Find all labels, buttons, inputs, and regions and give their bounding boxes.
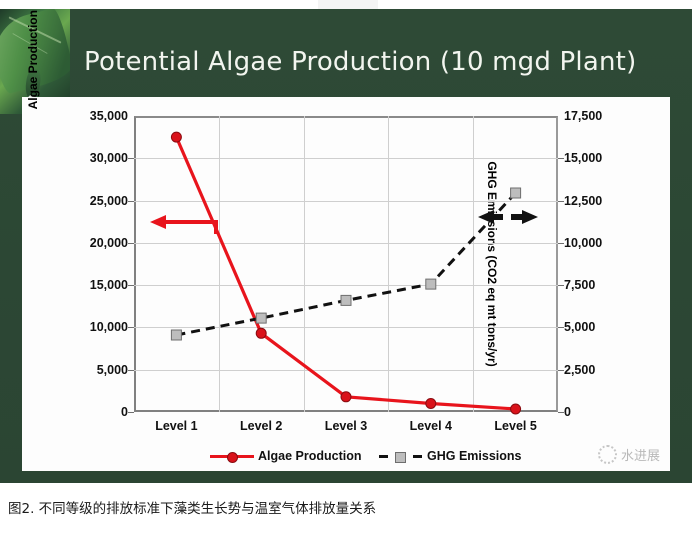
right-tick-5: 12,500 xyxy=(564,194,602,208)
series-line-algae-production xyxy=(176,137,515,409)
left-axis-ticks: 0 5,000 10,000 15,000 20,000 25,000 30,0… xyxy=(58,116,128,412)
data-point-algae-production-1[interactable] xyxy=(171,132,181,142)
left-tick-0: 0 xyxy=(121,405,128,419)
left-tick-1: 5,000 xyxy=(97,363,128,377)
data-point-algae-production-3[interactable] xyxy=(341,392,351,402)
plot-area xyxy=(134,116,558,412)
x-tick-level-4: Level 4 xyxy=(410,419,452,433)
data-series-layer xyxy=(134,116,558,412)
legend-label-algae-production: Algae Production xyxy=(258,449,361,463)
right-tick-3: 7,500 xyxy=(564,278,595,292)
top-partial-mark xyxy=(318,0,378,9)
right-tickmark-5000 xyxy=(558,327,564,328)
x-tick-level-1: Level 1 xyxy=(155,419,197,433)
data-point-ghg-emissions-5[interactable] xyxy=(511,188,521,198)
left-tick-2: 10,000 xyxy=(90,320,128,334)
slide-title: Potential Algae Production (10 mgd Plant… xyxy=(84,47,680,77)
data-point-algae-production-4[interactable] xyxy=(426,399,436,409)
data-point-ghg-emissions-4[interactable] xyxy=(426,279,436,289)
ghg-line-swatch-icon xyxy=(379,451,423,461)
right-tick-0: 0 xyxy=(564,405,571,419)
watermark: 水进展 xyxy=(598,445,660,464)
data-point-ghg-emissions-1[interactable] xyxy=(171,330,181,340)
left-tick-7: 35,000 xyxy=(90,109,128,123)
presentation-slide: Potential Algae Production (10 mgd Plant… xyxy=(0,9,692,483)
x-tick-level-5: Level 5 xyxy=(494,419,536,433)
chart-legend: Algae Production GHG Emissions xyxy=(134,449,558,469)
right-tickmark-0 xyxy=(558,412,564,413)
wechat-logo-icon xyxy=(598,445,617,464)
right-tickmark-2500 xyxy=(558,370,564,371)
left-tickmark-0 xyxy=(128,412,134,413)
right-tick-1: 2,500 xyxy=(564,363,595,377)
watermark-text: 水进展 xyxy=(621,445,660,464)
right-tickmark-12500 xyxy=(558,201,564,202)
left-axis-title: Algae Production per Treatment Level (lb… xyxy=(26,9,40,109)
algae-line-swatch-icon xyxy=(210,451,254,461)
right-tick-4: 10,000 xyxy=(564,236,602,250)
right-tick-6: 15,000 xyxy=(564,151,602,165)
right-tickmark-10000 xyxy=(558,243,564,244)
left-tick-6: 30,000 xyxy=(90,151,128,165)
series-line-ghg-emissions xyxy=(176,193,515,335)
legend-label-ghg-emissions: GHG Emissions xyxy=(427,449,521,463)
left-tick-5: 25,000 xyxy=(90,194,128,208)
x-tick-level-2: Level 2 xyxy=(240,419,282,433)
figure-caption: 图2. 不同等级的排放标准下藻类生长势与温室气体排放量关系 xyxy=(8,497,684,517)
data-point-ghg-emissions-3[interactable] xyxy=(341,295,351,305)
left-axis-title-rotator: Algae Production per Treatment Level (lb… xyxy=(18,9,48,116)
data-point-algae-production-2[interactable] xyxy=(256,328,266,338)
right-axis-ticks: 0 2,500 5,000 7,500 10,000 12,500 15,000… xyxy=(564,116,634,412)
data-point-algae-production-5[interactable] xyxy=(511,404,521,414)
data-point-ghg-emissions-2[interactable] xyxy=(256,313,266,323)
left-tick-4: 20,000 xyxy=(90,236,128,250)
left-tick-3: 15,000 xyxy=(90,278,128,292)
right-tickmark-7500 xyxy=(558,285,564,286)
right-tickmark-15000 xyxy=(558,158,564,159)
legend-item-ghg-emissions[interactable]: GHG Emissions xyxy=(379,449,521,463)
right-tick-2: 5,000 xyxy=(564,320,595,334)
chart-panel: Algae Production per Treatment Level (lb… xyxy=(22,97,670,471)
screenshot-root: Potential Algae Production (10 mgd Plant… xyxy=(0,0,692,533)
legend-item-algae-production[interactable]: Algae Production xyxy=(210,449,361,463)
x-tick-level-3: Level 3 xyxy=(325,419,367,433)
right-tick-7: 17,500 xyxy=(564,109,602,123)
